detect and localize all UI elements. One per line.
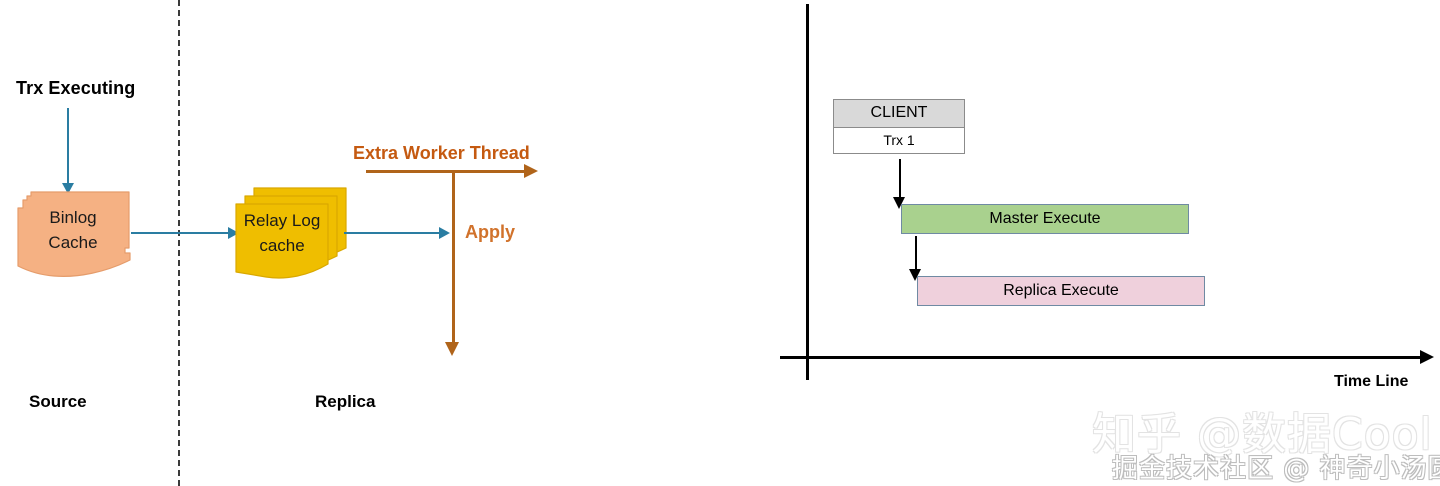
- relay-log-cache-label-line1: Relay Log: [228, 208, 336, 233]
- worker-thread-vertical-line: [452, 170, 455, 345]
- time-line-label: Time Line: [1334, 373, 1408, 391]
- diagram-canvas: Trx Executing Binlog Cache Relay Log cac…: [0, 0, 1440, 486]
- relay-log-cache-label-line2: cache: [228, 233, 336, 258]
- client-box-title: CLIENT: [834, 100, 964, 128]
- relay-to-apply-arrow-line: [344, 232, 442, 234]
- client-box-transaction: Trx 1: [834, 128, 964, 153]
- master-execute-bar: Master Execute: [901, 204, 1189, 234]
- worker-thread-vertical-arrow-head: [445, 342, 459, 356]
- worker-thread-horizontal-arrow-head: [524, 164, 538, 178]
- binlog-cache-label: Binlog Cache: [14, 205, 132, 255]
- extra-worker-thread-label: Extra Worker Thread: [353, 143, 530, 164]
- binlog-to-relay-arrow-line: [131, 232, 231, 234]
- timeline-x-axis: [780, 356, 1424, 359]
- replica-execute-bar: Replica Execute: [917, 276, 1205, 306]
- worker-thread-horizontal-line: [366, 170, 526, 173]
- binlog-cache-label-line2: Cache: [14, 230, 132, 255]
- timeline-x-axis-arrow-head: [1420, 350, 1434, 364]
- binlog-cache-label-line1: Binlog: [14, 205, 132, 230]
- client-box: CLIENT Trx 1: [833, 99, 965, 154]
- trx-to-binlog-arrow-line: [67, 108, 69, 186]
- source-label: Source: [29, 392, 87, 412]
- watermark-secondary: 掘金技术社区 @ 神奇小汤圆: [1112, 448, 1440, 485]
- replica-label: Replica: [315, 392, 375, 412]
- client-to-master-arrow-line: [899, 159, 901, 201]
- relay-log-cache-label: Relay Log cache: [228, 208, 336, 258]
- trx-executing-label: Trx Executing: [16, 78, 135, 99]
- timeline-y-axis: [806, 4, 809, 380]
- apply-label: Apply: [465, 222, 515, 243]
- source-replica-divider: [178, 0, 180, 486]
- relay-to-apply-arrow-head: [439, 227, 450, 239]
